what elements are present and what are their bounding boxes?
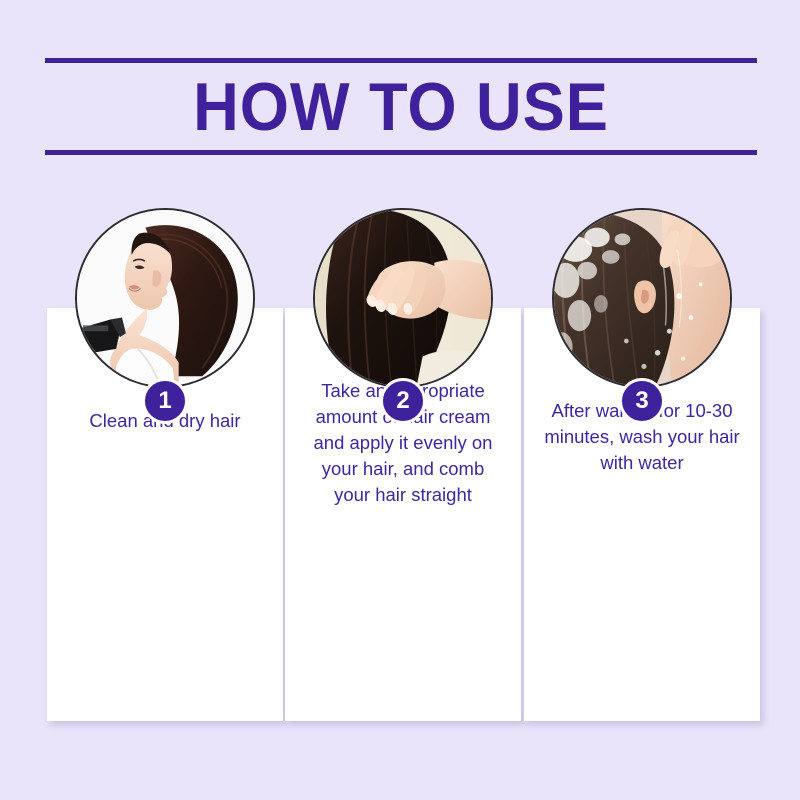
woman-blow-drying-hair-icon (77, 210, 253, 386)
step-photo-2 (313, 208, 493, 388)
step-card-2: 2 Take an appropriate amount of hair cre… (285, 208, 521, 728)
washing-hair-with-water-icon (554, 210, 730, 386)
steps-container: 1 Clean and dry hair (0, 0, 800, 800)
step-number-badge-3: 3 (619, 378, 665, 424)
hand-applying-cream-to-hair-icon (315, 210, 491, 386)
step-photo-3 (552, 208, 732, 388)
step-number-badge-1: 1 (142, 378, 188, 424)
step-number-badge-2: 2 (380, 378, 426, 424)
step-photo-1 (75, 208, 255, 388)
step-card-3: 3 After waiting for 10-30 minutes, wash … (524, 208, 760, 728)
step-card-1: 1 Clean and dry hair (47, 208, 283, 728)
